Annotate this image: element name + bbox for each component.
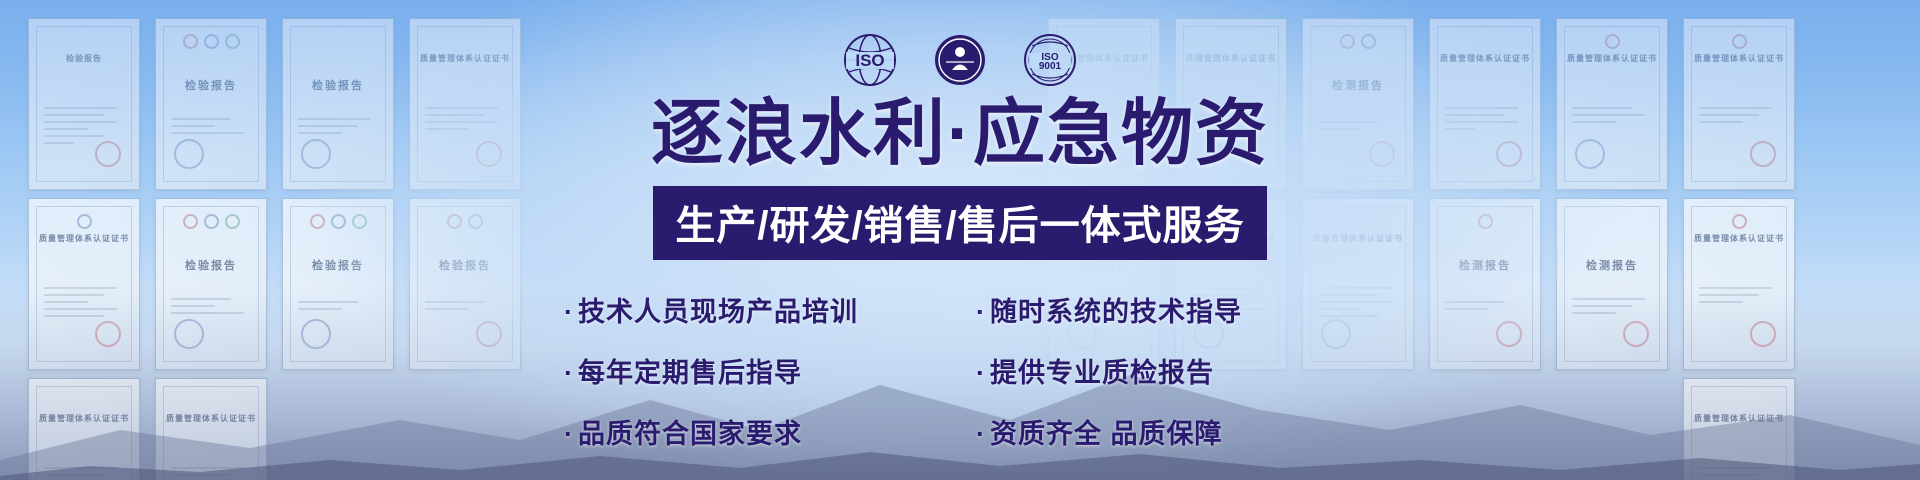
bullet-icon: · [564, 297, 574, 327]
certificate-title: 检验报告 [185, 77, 237, 93]
feature-item: ·每年定期售后指导 [564, 351, 958, 390]
certificate-title: 质量管理体系认证证书 [1694, 53, 1784, 64]
certificate-title: 质量管理体系认证证书 [1694, 413, 1784, 424]
certificate-thumbnail: 质量管理体系认证证书 [28, 198, 140, 370]
feature-label: 技术人员现场产品培训 [578, 297, 858, 327]
certificate-thumbnail: 质量管理体系认证证书 [155, 378, 267, 480]
certificate-thumbnail: 质量管理体系认证证书 [1429, 18, 1541, 190]
certificate-title: 质量管理体系认证证书 [1440, 53, 1530, 64]
certificate-title: 检验报告 [312, 77, 364, 93]
certificate-thumbnail: 质量管理体系认证证书 [28, 378, 140, 480]
banner-subtitle: 生产/研发/销售/售后一体式服务 [653, 186, 1266, 260]
certificate-thumbnail: 检验报告 [28, 18, 140, 190]
promotional-banner: 检验报告 检验报告 检验报告 质量管理体系认证证书 质量管理体系认证证书 [0, 0, 1920, 480]
feature-label: 每年定期售后指导 [578, 358, 802, 388]
certificate-title: 检测报告 [1332, 77, 1384, 93]
bullet-icon: · [976, 358, 986, 388]
feature-label: 随时系统的技术指导 [990, 297, 1242, 327]
certificate-title: 检验报告 [312, 257, 364, 273]
bullet-icon: · [976, 297, 986, 327]
certificate-thumbnail: 质量管理体系认证证书 [1556, 18, 1668, 190]
certificate-thumbnail: 质量管理体系认证证书 [409, 18, 521, 190]
certificate-title: 质量管理体系认证证书 [39, 413, 129, 424]
certificate-title: 检测报告 [1586, 257, 1638, 273]
certificate-emblem [174, 139, 204, 169]
certificate-thumbnail: 检测报告 [1556, 198, 1668, 370]
feature-label: 品质符合国家要求 [578, 419, 802, 449]
certificate-thumbnail: 质量管理体系认证证书 [1683, 378, 1795, 480]
certificate-title: 检测报告 [1459, 257, 1511, 273]
certificate-title: 检验报告 [66, 53, 102, 64]
feature-list: ·技术人员现场产品培训 ·随时系统的技术指导 ·每年定期售后指导 ·提供专业质检… [550, 290, 1370, 451]
certificate-thumbnail: 检测报告 [1429, 198, 1541, 370]
certificate-emblem [301, 139, 331, 169]
feature-item: ·随时系统的技术指导 [976, 290, 1370, 329]
certificate-thumbnail: 检验报告 [282, 18, 394, 190]
banner-main-title: 逐浪水利·应急物资 [550, 96, 1370, 172]
certificate-thumbnail: 检验报告 [155, 18, 267, 190]
iso-badge-label: ISO [855, 51, 884, 70]
certificate-emblem [1575, 139, 1605, 169]
certificate-title: 质量管理体系认证证书 [166, 413, 256, 424]
certificate-emblem [174, 319, 204, 349]
certificate-title: 质量管理体系认证证书 [1567, 53, 1657, 64]
feature-item: ·技术人员现场产品培训 [564, 290, 958, 329]
certificate-title: 质量管理体系认证证书 [1694, 233, 1784, 244]
certificate-thumbnail: 检验报告 [155, 198, 267, 370]
feature-item: ·资质齐全 品质保障 [976, 412, 1370, 451]
certificate-emblem [301, 319, 331, 349]
bullet-icon: · [564, 358, 574, 388]
certificate-thumbnail: 检验报告 [409, 198, 521, 370]
banner-content: 逐浪水利·应急物资 生产/研发/销售/售后一体式服务 ·技术人员现场产品培训 ·… [550, 96, 1370, 451]
bullet-icon: · [976, 419, 986, 449]
quality-seal-badge [932, 32, 988, 88]
iso-globe-badge: ISO [842, 32, 898, 88]
feature-item: ·提供专业质检报告 [976, 351, 1370, 390]
certification-badges-row: ISO ISO 9001 [842, 32, 1078, 88]
feature-label: 资质齐全 品质保障 [990, 419, 1223, 449]
certificate-title: 检验报告 [185, 257, 237, 273]
feature-label: 提供专业质检报告 [990, 358, 1214, 388]
bullet-icon: · [564, 419, 574, 449]
certificate-thumbnail: 检验报告 [282, 198, 394, 370]
certificate-title: 环境管理体系认证证书 [1186, 53, 1276, 64]
feature-item: ·品质符合国家要求 [564, 412, 958, 451]
certificate-thumbnail: 质量管理体系认证证书 [1683, 198, 1795, 370]
certificate-title: 质量管理体系认证证书 [420, 53, 510, 64]
certificate-title: 质量管理体系认证证书 [39, 233, 129, 244]
svg-text:9001: 9001 [1039, 61, 1062, 72]
iso-9001-badge: ISO 9001 [1022, 32, 1078, 88]
certificate-title: 检验报告 [439, 257, 491, 273]
certificate-thumbnail: 质量管理体系认证证书 [1683, 18, 1795, 190]
